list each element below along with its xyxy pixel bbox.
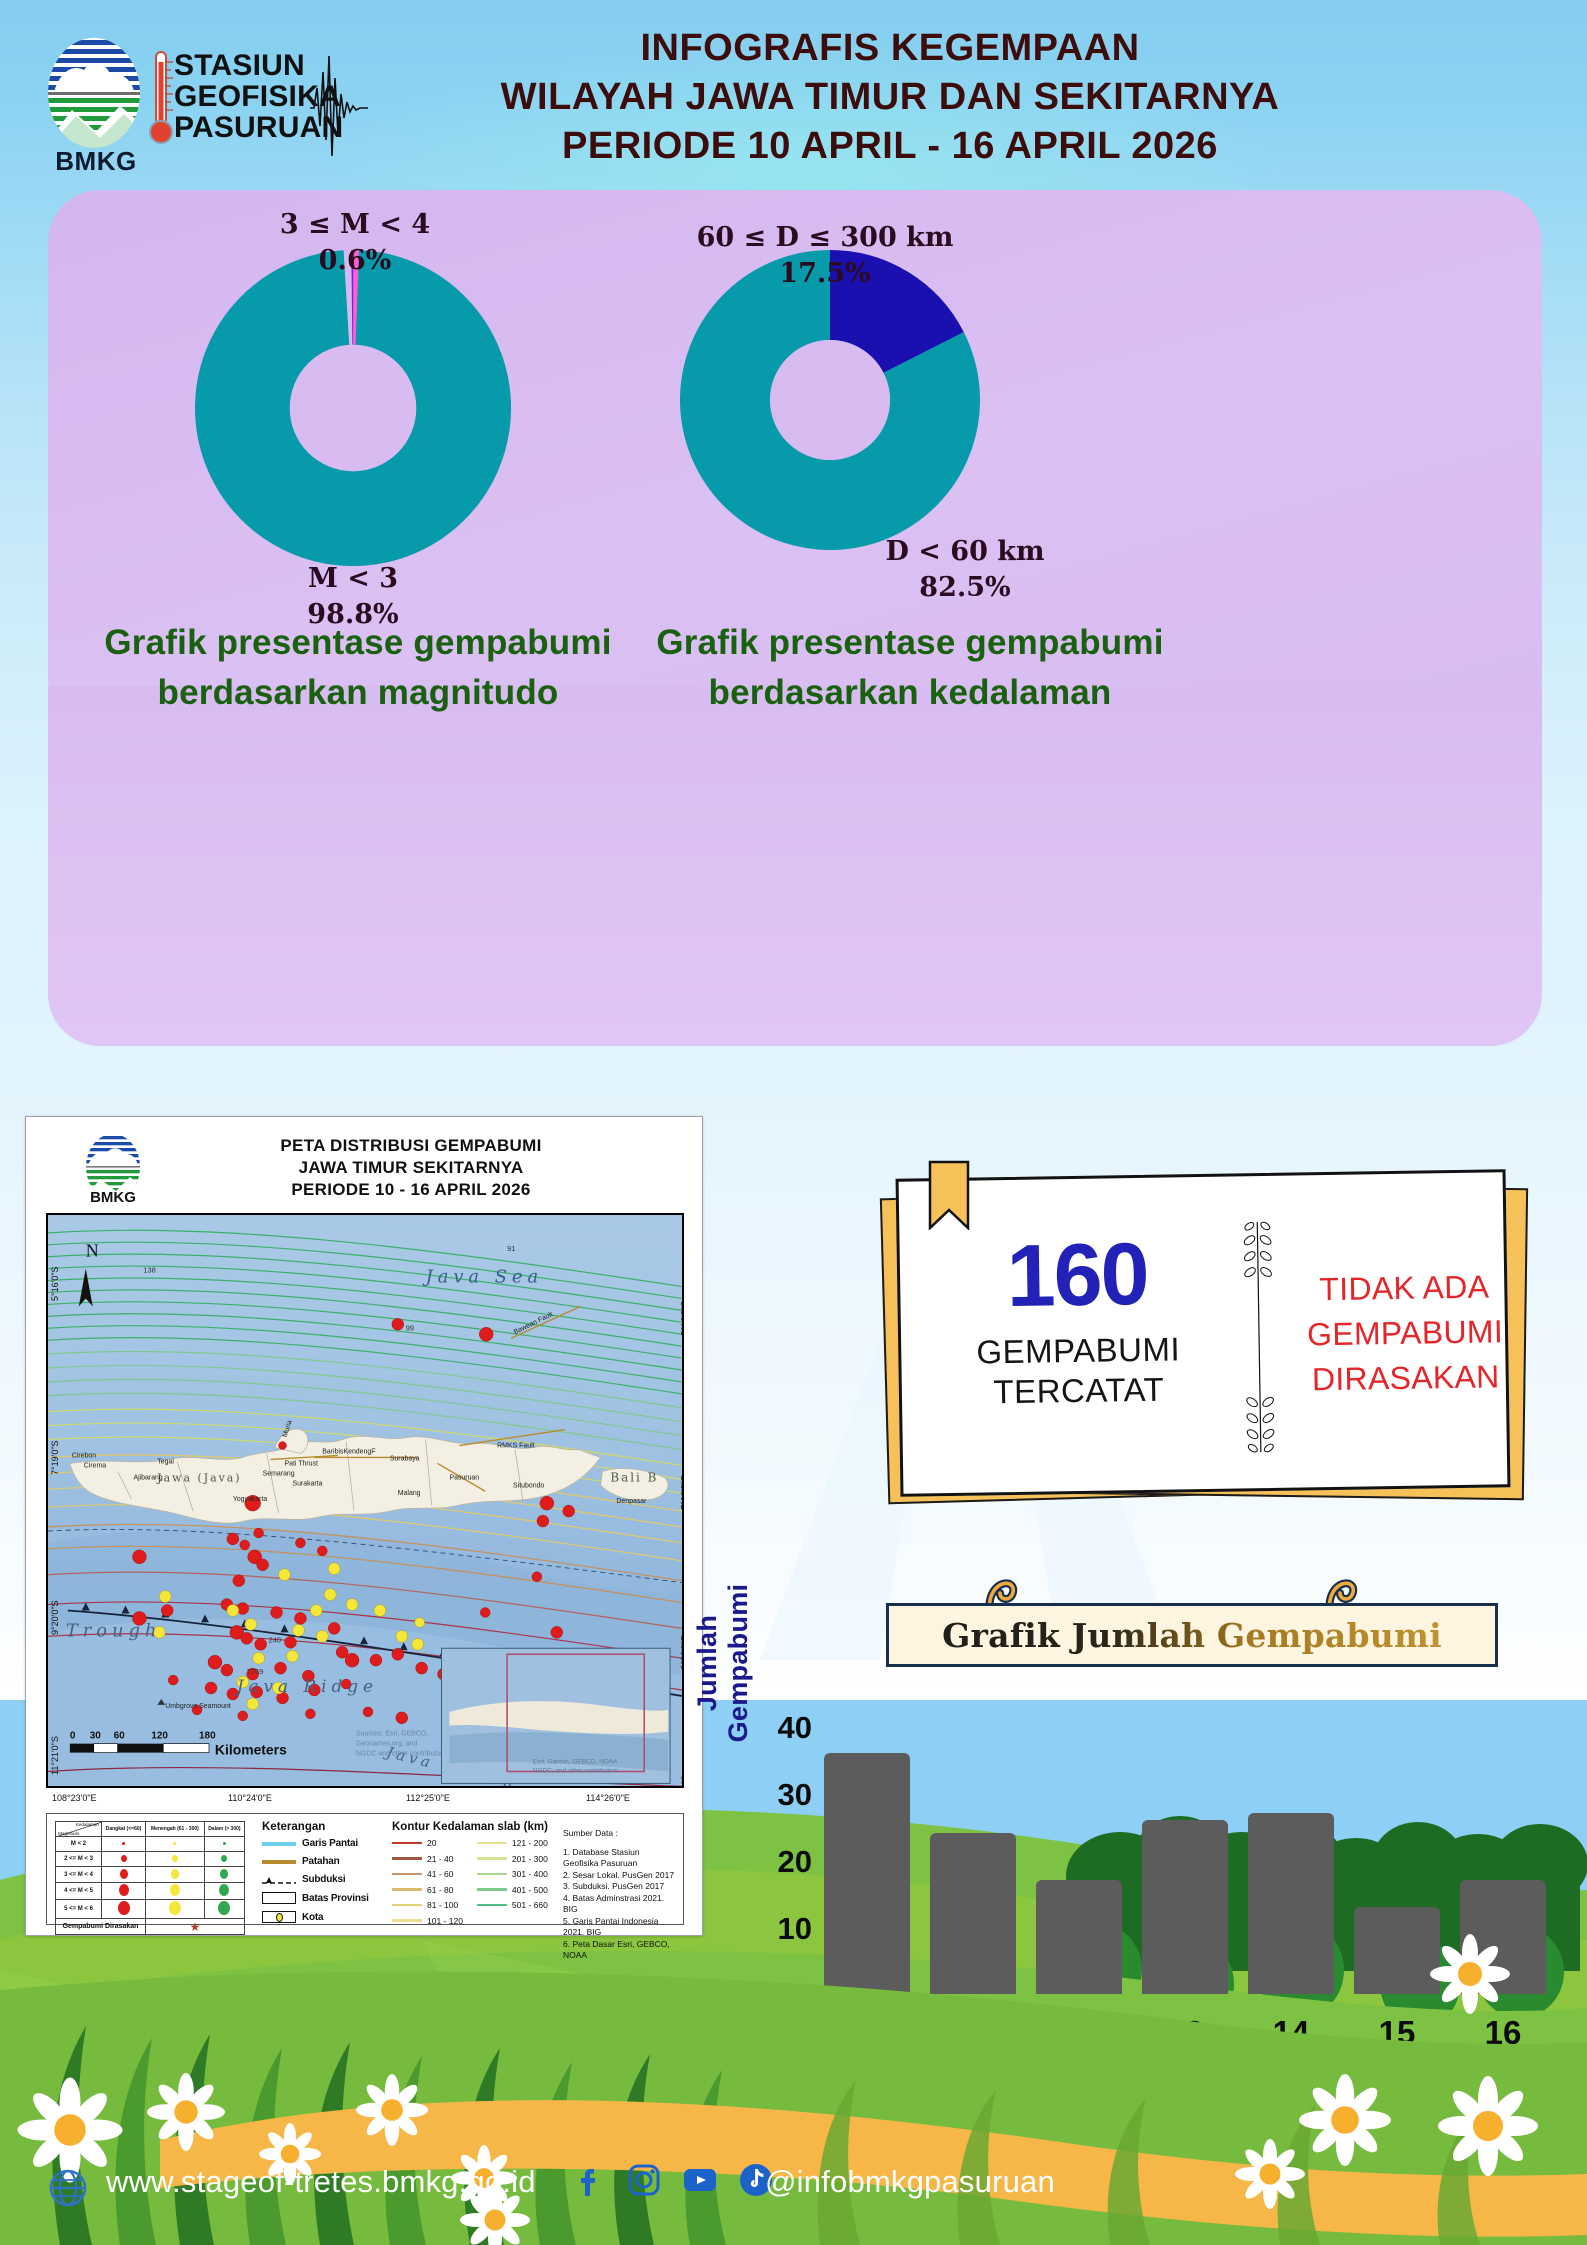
map-render: N Java Sea Trough Java Ridge Java Trench…	[48, 1215, 682, 1786]
legend-keterangan: Keterangan Garis Pantai Patahan Subduksi…	[262, 1821, 382, 1930]
magnitude-caption-line-2: berdasarkan magnitudo	[78, 668, 638, 718]
count-sub-line-2: TERCATAT	[936, 1369, 1223, 1413]
magnitude-top-label-text: 3 ≤ M < 4	[250, 207, 460, 243]
distribution-map-card[interactable]: BMKG PETA DISTRIBUSI GEMPABUMI JAWA TIMU…	[25, 1116, 703, 1936]
felt-status-text: TIDAK ADA GEMPABUMI DIRASAKAN	[1284, 1264, 1526, 1403]
kontur-text: 121 - 200	[512, 1838, 548, 1848]
kontur-text: 81 - 100	[427, 1900, 458, 1910]
kontur-text: 61 - 80	[427, 1885, 453, 1895]
depth-donut-chart	[680, 250, 980, 550]
svg-text:120: 120	[151, 1731, 168, 1742]
legend-item-coastline: Garis Pantai	[262, 1838, 382, 1849]
map-title: PETA DISTRIBUSI GEMPABUMI JAWA TIMUR SEK…	[176, 1135, 646, 1201]
thermometer-icon	[146, 48, 176, 148]
page-header: BMKG STASIUN GEOFISIKA PASURUAN INFOGRAF…	[0, 0, 1587, 190]
legend-magnitude-matrix: Kedalaman Magnitudo Dangkal (<=60) Menen…	[55, 1821, 245, 1935]
kontur-text: 401 - 500	[512, 1885, 548, 1895]
legend-slab-contour: Kontur Kedalaman slab (km) 20 21 - 40 41…	[392, 1821, 572, 1931]
subduction-label: Subduksi	[302, 1874, 345, 1885]
svg-text:NGDC, and other contributors: NGDC, and other contributors	[533, 1767, 618, 1774]
kontur-title: Kontur Kedalaman slab (km)	[392, 1821, 572, 1833]
map-legend: Kedalaman Magnitudo Dangkal (<=60) Menen…	[46, 1813, 684, 1925]
lat-label-2r: 7°19'0"S	[680, 1475, 684, 1510]
kontur-line-icon	[392, 1888, 422, 1891]
card-face: 160 GEMPABUMI TERCATAT	[896, 1169, 1511, 1497]
city-label: Kota	[302, 1912, 323, 1923]
svg-text:7769: 7769	[247, 1667, 264, 1676]
kontur-item: 61 - 80	[392, 1885, 463, 1895]
kontur-item: 81 - 100	[392, 1900, 463, 1910]
depth-caption-line-1: Grafik presentase gempabumi	[630, 618, 1190, 668]
kontur-item: 301 - 400	[477, 1869, 548, 1879]
map-title-line-2: JAWA TIMUR SEKITARNYA	[176, 1157, 646, 1179]
facebook-icon[interactable]	[572, 2162, 608, 2198]
felt-line-3: DIRASAKAN	[1285, 1354, 1526, 1403]
depth-bottom-label: D < 60 km 82.5%	[800, 534, 1130, 606]
city-swatch-icon	[262, 1911, 296, 1923]
svg-text:Denpasar: Denpasar	[616, 1498, 647, 1505]
page-title: INFOGRAFIS KEGEMPAAN WILAYAH JAWA TIMUR …	[300, 24, 1480, 171]
svg-text:Jawa (Java): Jawa (Java)	[156, 1471, 241, 1484]
magnitude-donut-chart	[195, 250, 511, 566]
sumber-item: 1. Database Stasiun	[563, 1847, 681, 1859]
kontur-text: 21 - 40	[427, 1854, 453, 1864]
kontur-line-icon	[392, 1873, 422, 1876]
sumber-item: 2. Sesar Lokal. PusGen 2017	[563, 1870, 681, 1882]
kontur-item: 20	[392, 1838, 463, 1848]
lon-label-4: 114°26'0"E	[586, 1793, 630, 1803]
svg-text:240: 240	[269, 1635, 281, 1644]
magnitude-bottom-label-text: M < 3	[248, 561, 458, 597]
kontur-text: 41 - 60	[427, 1869, 453, 1879]
map-bmkg-label: BMKG	[78, 1189, 148, 1206]
kontur-col-left: 20 21 - 40 41 - 60 61 - 80 81 - 100 101 …	[392, 1838, 463, 1931]
kontur-item: 21 - 40	[392, 1854, 463, 1864]
lon-label-1: 108°23'0"E	[52, 1793, 97, 1803]
svg-text:Kilometers: Kilometers	[215, 1742, 287, 1758]
kontur-text: 501 - 660	[512, 1900, 548, 1910]
svg-text:Trough: Trough	[66, 1620, 162, 1641]
lat-label-2: 7°19'0"S	[50, 1440, 60, 1475]
svg-text:N: N	[86, 1241, 99, 1261]
earthquake-count-number: 160	[951, 1229, 1202, 1321]
svg-text:NGDC and other contributors: NGDC and other contributors	[356, 1751, 446, 1758]
kontur-line-icon	[477, 1842, 507, 1845]
sumber-item: 3. Subduksi. PusGen 2017	[563, 1881, 681, 1893]
magnitude-caption-line-1: Grafik presentase gempabumi	[78, 618, 638, 668]
svg-text:Bali B: Bali B	[610, 1470, 658, 1484]
kontur-line-icon	[477, 1857, 507, 1860]
svg-text:Pasuruan: Pasuruan	[449, 1474, 479, 1481]
depth-chart-caption: Grafik presentase gempabumi berdasarkan …	[630, 618, 1190, 718]
depth-bottom-label-value: 82.5%	[800, 570, 1130, 606]
lon-label-2: 110°24'0"E	[228, 1793, 272, 1803]
title-line-1: INFOGRAFIS KEGEMPAAN	[300, 24, 1480, 73]
map-viewport[interactable]: N Java Sea Trough Java Ridge Java Trench…	[46, 1213, 684, 1788]
svg-text:Surakarta: Surakarta	[292, 1480, 322, 1487]
kontur-line-icon	[392, 1857, 422, 1860]
lat-label-3r: 9°20'0"S	[680, 1635, 684, 1670]
depth-donut-svg	[680, 250, 980, 550]
kontur-line-icon	[392, 1842, 422, 1845]
svg-text:0: 0	[70, 1731, 76, 1742]
globe-icon	[48, 2168, 88, 2208]
footer-website[interactable]: www.stageof-tretes.bmkg.go.id	[106, 2164, 536, 2200]
map-header: BMKG PETA DISTRIBUSI GEMPABUMI JAWA TIMU…	[26, 1123, 704, 1209]
kontur-text: 20	[427, 1838, 436, 1848]
bookmark-ribbon-icon	[928, 1160, 970, 1230]
svg-text:30: 30	[90, 1731, 102, 1742]
magnitude-chart-caption: Grafik presentase gempabumi berdasarkan …	[78, 618, 638, 718]
kontur-line-icon	[477, 1904, 507, 1907]
kontur-text: 101 - 120	[427, 1916, 463, 1926]
legend-item-fault: Patahan	[262, 1856, 382, 1867]
kontur-item: 41 - 60	[392, 1869, 463, 1879]
page-footer: www.stageof-tretes.bmkg.go.id @infobmkgp…	[0, 2148, 1587, 2245]
svg-text:Cirema: Cirema	[84, 1462, 106, 1469]
sumber-item: Geofisika Pasuruan	[563, 1858, 681, 1870]
percentage-panel-lower	[48, 686, 1542, 1046]
svg-text:RMKS Fault: RMKS Fault	[497, 1443, 534, 1450]
kontur-line-icon	[392, 1904, 422, 1907]
leaf-divider-icon	[1237, 1212, 1281, 1463]
svg-text:Esri, Garmin, GEBCO, NOAA: Esri, Garmin, GEBCO, NOAA	[533, 1759, 618, 1766]
svg-text:BaribisKendengF: BaribisKendengF	[322, 1448, 375, 1455]
depth-bottom-label-text: D < 60 km	[800, 534, 1130, 570]
y-tick-40: 40	[738, 1712, 812, 1743]
legend-item-subduction: Subduksi	[262, 1874, 382, 1885]
bmkg-wordmark: BMKG	[48, 146, 144, 177]
bmkg-globe-icon	[46, 36, 142, 150]
kontur-text: 201 - 300	[512, 1854, 548, 1864]
svg-text:Umbgrove Seamount: Umbgrove Seamount	[165, 1703, 231, 1710]
title-line-3: PERIODE 10 APRIL - 16 APRIL 2026	[300, 122, 1480, 171]
depth-top-label-value: 17.5%	[660, 256, 990, 292]
svg-text:Semarang: Semarang	[263, 1470, 295, 1477]
svg-text:99: 99	[406, 1323, 414, 1332]
svg-text:Sources: Esri, GEBCO,: Sources: Esri, GEBCO,	[356, 1731, 428, 1738]
kontur-item: 201 - 300	[477, 1854, 548, 1864]
svg-text:Surabaya: Surabaya	[390, 1455, 420, 1462]
sumber-item: 4. Batas Adminstrasi 2021. BIG	[563, 1893, 681, 1916]
svg-text:Ajibarang: Ajibarang	[133, 1474, 162, 1481]
felt-line-1: TIDAK ADA	[1284, 1264, 1525, 1313]
youtube-icon[interactable]	[682, 2162, 718, 2198]
fault-label: Patahan	[302, 1856, 340, 1867]
footer-social-handle[interactable]: @infobmkgpasuruan	[765, 2164, 1055, 2200]
title-line-2: WILAYAH JAWA TIMUR DAN SEKITARNYA	[300, 73, 1480, 122]
svg-text:180: 180	[199, 1731, 216, 1742]
map-inset: Esri, Garmin, GEBCO, NOAA NGDC, and othe…	[442, 1648, 671, 1783]
lat-label-4r: 11°21'0"S	[680, 1775, 684, 1788]
depth-top-label: 60 ≤ D ≤ 300 km 17.5%	[660, 220, 990, 292]
lat-label-1r: 5°16'0"S	[680, 1301, 684, 1336]
depth-top-label-text: 60 ≤ D ≤ 300 km	[660, 220, 990, 256]
lat-label-3: 9°20'0"S	[50, 1600, 60, 1635]
svg-text:Java Sea: Java Sea	[423, 1267, 543, 1288]
lon-label-3: 112°25'0"E	[406, 1793, 450, 1803]
svg-text:Yogyakarta: Yogyakarta	[233, 1496, 268, 1503]
instagram-icon[interactable]	[626, 2162, 662, 2198]
svg-text:Pati Thrust: Pati Thrust	[285, 1460, 318, 1467]
kontur-item: 101 - 120	[392, 1916, 463, 1926]
kontur-line-icon	[392, 1919, 422, 1922]
magnitude-top-label-value: 0.6%	[250, 243, 460, 279]
coastline-swatch-icon	[262, 1842, 296, 1846]
lat-label-4: 11°21'0"S	[50, 1736, 60, 1775]
svg-text:Cirebon: Cirebon	[72, 1452, 96, 1459]
legend-item-city: Kota	[262, 1911, 382, 1923]
svg-text:Situbondo: Situbondo	[513, 1482, 544, 1489]
y-tick-20: 20	[738, 1846, 812, 1877]
sumber-title: Sumber Data :	[563, 1828, 681, 1840]
kontur-item: 401 - 500	[477, 1885, 548, 1895]
svg-text:Geonames.org, and: Geonames.org, and	[356, 1741, 417, 1748]
map-longitude-axis: 108°23'0"E 110°24'0"E 112°25'0"E 114°26'…	[46, 1793, 684, 1809]
magnitude-top-label: 3 ≤ M < 4 0.6%	[250, 207, 460, 279]
svg-text:Malang: Malang	[398, 1490, 421, 1497]
province-label: Batas Provinsi	[302, 1893, 369, 1904]
kontur-line-icon	[477, 1888, 507, 1891]
y-tick-30: 30	[738, 1779, 812, 1810]
svg-text:138: 138	[143, 1266, 155, 1275]
kontur-col-right: 121 - 200 201 - 300 301 - 400 401 - 500 …	[477, 1838, 548, 1931]
kontur-item: 501 - 660	[477, 1900, 548, 1910]
svg-text:Java Ridge: Java Ridge	[234, 1676, 378, 1696]
lat-label-1: 5°16'0"S	[50, 1266, 60, 1301]
coastline-label: Garis Pantai	[302, 1838, 358, 1849]
map-title-line-3: PERIODE 10 - 16 APRIL 2026	[176, 1179, 646, 1201]
banner-title: Grafik Jumlah Gempabumi	[886, 1603, 1498, 1667]
svg-text:91: 91	[507, 1244, 515, 1253]
keterangan-title: Keterangan	[262, 1821, 382, 1833]
subduction-swatch-icon	[262, 1876, 296, 1884]
kontur-text: 301 - 400	[512, 1869, 548, 1879]
map-title-line-1: PETA DISTRIBUSI GEMPABUMI	[176, 1135, 646, 1157]
svg-text:60: 60	[114, 1731, 126, 1742]
legend-item-province: Batas Provinsi	[262, 1892, 382, 1904]
svg-text:Tegal: Tegal	[157, 1458, 174, 1465]
province-swatch-icon	[262, 1892, 296, 1904]
depth-caption-line-2: berdasarkan kedalaman	[630, 668, 1190, 718]
kontur-item: 121 - 200	[477, 1838, 548, 1848]
magnitude-donut-svg	[195, 250, 511, 566]
earthquake-count-card: 160 GEMPABUMI TERCATAT	[880, 1160, 1540, 1510]
count-sub-line-1: GEMPABUMI	[935, 1329, 1222, 1373]
kontur-line-icon	[477, 1873, 507, 1876]
fault-swatch-icon	[262, 1860, 296, 1864]
felt-line-2: GEMPABUMI	[1285, 1309, 1526, 1358]
chart-banner: Grafik Jumlah Gempabumi	[862, 1565, 1522, 1695]
